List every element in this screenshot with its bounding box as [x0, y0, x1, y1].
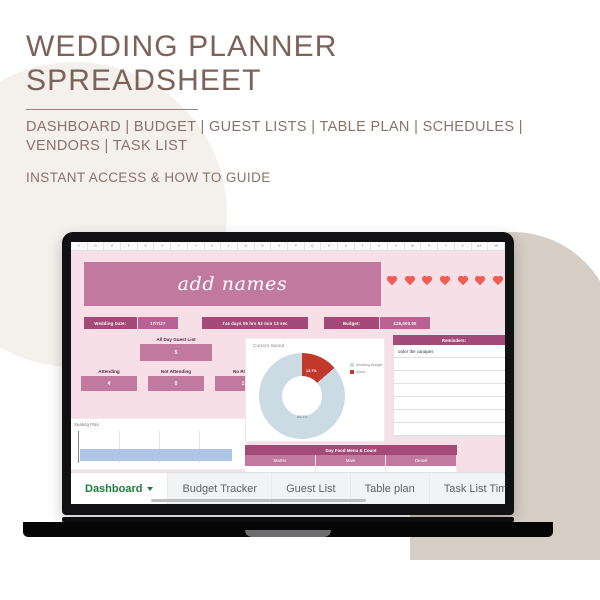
summary-pill-row: Wedding Date: 17/7/27 744 days 05 hrs 52…	[84, 317, 494, 329]
poster-canvas: WEDDING PLANNER SPREADSHEET DASHBOARD | …	[0, 0, 600, 600]
horizontal-scrollbar[interactable]	[151, 499, 366, 502]
food-column-header[interactable]: Starter	[245, 455, 316, 466]
reminder-row[interactable]	[394, 371, 505, 384]
laptop-mockup: CDEFGHIJKLMNOPQRSTUVWXYZAAAB add names W…	[62, 232, 514, 537]
column-header-cell[interactable]: P	[288, 242, 305, 250]
laptop-screen: CDEFGHIJKLMNOPQRSTUVWXYZAAAB add names W…	[71, 242, 505, 504]
seating-plan-bar	[80, 449, 232, 461]
column-header-cell[interactable]: C	[71, 242, 88, 250]
seating-plan-card[interactable]: Seating Plan	[71, 418, 247, 470]
column-header-cell[interactable]: J	[188, 242, 205, 250]
rsvp-stat-label: Attending	[81, 369, 137, 374]
food-column-header[interactable]: Main	[316, 455, 387, 466]
guest-summary-section: All Day Guest List 5 Attending4Not Atten…	[81, 337, 271, 391]
spreadsheet-column-headers[interactable]: CDEFGHIJKLMNOPQRSTUVWXYZAAAB	[71, 242, 505, 251]
rsvp-stat-cell: Attending4	[81, 369, 137, 391]
column-header-cell[interactable]: R	[321, 242, 338, 250]
title-divider	[26, 109, 198, 110]
column-header-cell[interactable]: E	[104, 242, 121, 250]
legend-item-spent: Spent	[350, 370, 383, 374]
page-title: WEDDING PLANNER SPREADSHEET	[26, 30, 571, 98]
food-table-columns: StarterMainDesert	[245, 455, 457, 466]
column-header-cell[interactable]: M	[238, 242, 255, 250]
current-spend-title: Current Spend	[246, 339, 384, 349]
rsvp-stat-row: Attending4Not Attending0No RSVP1	[81, 369, 271, 391]
poster-header: WEDDING PLANNER SPREADSHEET DASHBOARD | …	[26, 30, 571, 185]
column-header-cell[interactable]: Q	[305, 242, 322, 250]
rsvp-stat-cell: Not Attending0	[148, 369, 204, 391]
column-header-cell[interactable]: G	[138, 242, 155, 250]
reminder-row[interactable]: order the canapes	[394, 345, 505, 358]
column-header-cell[interactable]: AB	[488, 242, 505, 250]
column-header-cell[interactable]: U	[371, 242, 388, 250]
sheet-tab-label: Task List Time	[444, 483, 505, 495]
legend-swatch-icon	[350, 363, 354, 367]
column-header-cell[interactable]: F	[121, 242, 138, 250]
background-arch-mask	[410, 560, 600, 600]
chart-legend: Wedding Budget Spent	[350, 363, 383, 377]
column-header-cell[interactable]: K	[205, 242, 222, 250]
food-column-header[interactable]: Desert	[386, 455, 457, 466]
wedding-date-label: Wedding Date:	[84, 317, 137, 329]
budget-value: £25,000.00	[379, 317, 430, 329]
rsvp-stat-value[interactable]: 0	[148, 376, 204, 391]
reminders-panel[interactable]: Reminders: order the canapes	[393, 335, 505, 437]
sheet-tab-label: Dashboard	[85, 483, 142, 495]
column-header-cell[interactable]: I	[171, 242, 188, 250]
column-header-cell[interactable]: N	[255, 242, 272, 250]
laptop-base-notch	[245, 530, 331, 537]
reminder-row[interactable]	[394, 384, 505, 397]
heart-icon	[494, 277, 502, 285]
column-header-cell[interactable]: D	[88, 242, 105, 250]
donut-label-spent: 13.7%	[306, 369, 317, 373]
laptop-base	[23, 522, 553, 537]
column-header-cell[interactable]: V	[388, 242, 405, 250]
reminder-row[interactable]	[394, 358, 505, 371]
heart-icon	[388, 277, 396, 285]
budget-label: Budget:	[324, 317, 379, 329]
feature-list-line-1: DASHBOARD | BUDGET | GUEST LISTS | TABLE…	[26, 118, 571, 137]
column-header-cell[interactable]: O	[271, 242, 288, 250]
heart-decoration-row	[389, 278, 501, 284]
chevron-down-icon[interactable]	[147, 487, 153, 491]
budget-pill[interactable]: Budget: £25,000.00	[324, 317, 430, 329]
donut-label-budget: 86.3%	[297, 415, 308, 419]
column-header-cell[interactable]: H	[154, 242, 171, 250]
reminder-row[interactable]	[394, 397, 505, 410]
donut-hole	[282, 376, 322, 416]
column-header-cell[interactable]: Z	[455, 242, 472, 250]
couple-names-text: add names	[178, 273, 288, 295]
rsvp-stat-label: Not Attending	[148, 369, 204, 374]
sheet-tab-label: Guest List	[286, 483, 336, 495]
wedding-date-pill[interactable]: Wedding Date: 17/7/27	[84, 317, 178, 329]
all-day-guest-list-label: All Day Guest List	[81, 337, 271, 342]
column-header-cell[interactable]: X	[421, 242, 438, 250]
seating-plan-title: Seating Plan	[71, 419, 246, 427]
legend-item-wedding-budget: Wedding Budget	[350, 363, 383, 367]
rsvp-stat-value[interactable]: 4	[81, 376, 137, 391]
column-header-cell[interactable]: T	[355, 242, 372, 250]
seating-plan-chart	[78, 431, 240, 463]
sheet-tab-task-list-time[interactable]: Task List Time	[430, 473, 505, 504]
current-spend-chart-card[interactable]: Current Spend 13.7% 86.3% Wedding Budget	[245, 338, 385, 442]
sheet-tab-label: Budget Tracker	[182, 483, 257, 495]
wedding-date-value: 17/7/27	[137, 317, 178, 329]
heart-icon	[476, 277, 484, 285]
heart-icon	[458, 277, 466, 285]
feature-list-line-2: VENDORS | TASK LIST	[26, 137, 571, 156]
reminders-title: Reminders:	[393, 335, 505, 345]
spreadsheet-app: CDEFGHIJKLMNOPQRSTUVWXYZAAAB add names W…	[71, 242, 505, 504]
legend-label-spent: Spent	[356, 370, 365, 374]
legend-swatch-icon	[350, 370, 354, 374]
column-header-cell[interactable]: Y	[438, 242, 455, 250]
spend-donut-chart: 13.7% 86.3%	[259, 353, 345, 439]
column-header-cell[interactable]: S	[338, 242, 355, 250]
legend-label-budget: Wedding Budget	[356, 363, 383, 367]
reminder-row[interactable]	[394, 423, 505, 436]
sheet-tab-label: Table plan	[365, 483, 415, 495]
laptop-lid: CDEFGHIJKLMNOPQRSTUVWXYZAAAB add names W…	[62, 232, 514, 515]
countdown-pill[interactable]: 744 days 05 hrs 52 min 13 sec	[202, 317, 308, 329]
all-day-guest-list-value[interactable]: 5	[140, 344, 212, 361]
heart-icon	[405, 277, 413, 285]
couple-names-banner[interactable]: add names	[84, 262, 381, 306]
reminders-list[interactable]: order the canapes	[393, 345, 505, 437]
countdown-value: 744 days 05 hrs 52 min 13 sec	[202, 317, 308, 329]
heart-icon	[423, 277, 431, 285]
heart-icon	[441, 277, 449, 285]
reminder-row[interactable]	[394, 410, 505, 423]
column-header-cell[interactable]: AA	[472, 242, 489, 250]
food-table-title: Day Food Menu & Count	[245, 445, 457, 455]
column-header-cell[interactable]: W	[405, 242, 422, 250]
column-header-cell[interactable]: L	[221, 242, 238, 250]
instant-access-note: INSTANT ACCESS & HOW TO GUIDE	[26, 170, 571, 185]
